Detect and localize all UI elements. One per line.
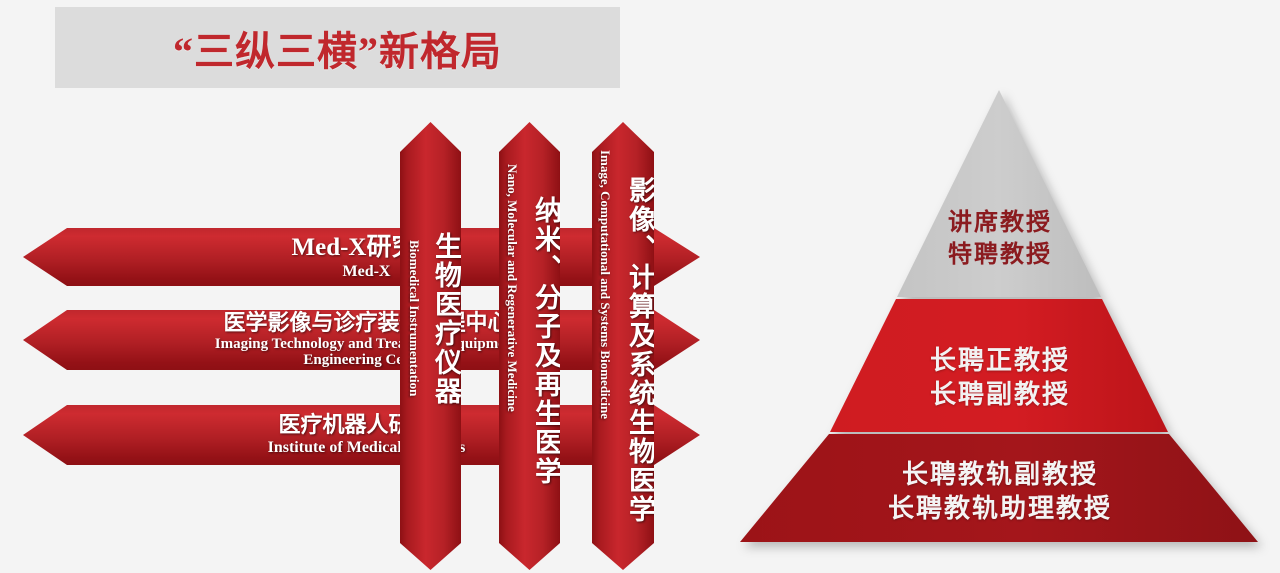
vertical-arrow-label-en: Nano, Molecular and Regenerative Medicin… bbox=[504, 164, 520, 412]
horizontal-arrow-labels: Med-X研究院 Med-X bbox=[178, 234, 555, 281]
horizontal-arrow-label-en: Imaging Technology and Treatment Equipme… bbox=[178, 336, 555, 370]
vertical-arrow-label-en: Biomedical Instrumentation bbox=[406, 240, 422, 396]
pyramid-tier-top[interactable] bbox=[897, 90, 1101, 297]
vertical-arrow-label-cn: 影像、计算及系统生物医学 bbox=[626, 176, 653, 524]
pyramid-svg bbox=[730, 86, 1270, 556]
vertical-arrow-label-en: Image, Computational and Systems Biomedi… bbox=[597, 150, 613, 419]
vertical-arrow-image-computational-systems[interactable]: 影像、计算及系统生物医学 Image, Computational and Sy… bbox=[592, 122, 654, 570]
horizontal-arrow-label-en: Institute of Medical Robotics bbox=[178, 439, 555, 457]
pyramid-tier-middle[interactable] bbox=[830, 299, 1168, 432]
vertical-arrow-label-cn: 纳米、分子及再生医学 bbox=[532, 196, 559, 486]
page-title: “三纵三横”新格局 bbox=[173, 19, 502, 77]
vertical-arrow-label-cn: 生物医疗仪器 bbox=[432, 232, 459, 406]
vertical-arrow-labels: 纳米、分子及再生医学 Nano, Molecular and Regenerat… bbox=[499, 122, 560, 570]
vertical-arrow-labels: 生物医疗仪器 Biomedical Instrumentation bbox=[400, 122, 461, 570]
horizontal-arrow-label-cn: 医学影像与诊疗装备工程中心 bbox=[178, 311, 555, 336]
slide-canvas: “三纵三横”新格局 Med-X研究院 Med-X 医学影像与诊疗装备工程中心 I… bbox=[0, 0, 1280, 573]
horizontal-arrow-labels: 医疗机器人研究院 Institute of Medical Robotics bbox=[178, 413, 555, 457]
vertical-arrow-labels: 影像、计算及系统生物医学 Image, Computational and Sy… bbox=[592, 122, 654, 570]
horizontal-arrow-label-cn: 医疗机器人研究院 bbox=[178, 413, 555, 438]
title-box: “三纵三横”新格局 bbox=[55, 7, 620, 88]
vertical-arrow-biomedical-instrumentation[interactable]: 生物医疗仪器 Biomedical Instrumentation bbox=[400, 122, 461, 570]
vertical-arrow-nano-molecular-regenerative[interactable]: 纳米、分子及再生医学 Nano, Molecular and Regenerat… bbox=[499, 122, 560, 570]
horizontal-arrow-labels: 医学影像与诊疗装备工程中心 Imaging Technology and Tre… bbox=[178, 311, 555, 369]
horizontal-arrow-label-en: Med-X bbox=[178, 263, 555, 281]
faculty-rank-pyramid: 讲席教授 特聘教授 长聘正教授 长聘副教授 长聘教轨副教授 长聘教轨助理教授 bbox=[730, 86, 1270, 556]
pyramid-tier-bottom[interactable] bbox=[740, 434, 1258, 542]
horizontal-arrow-label-cn: Med-X研究院 bbox=[178, 234, 555, 262]
